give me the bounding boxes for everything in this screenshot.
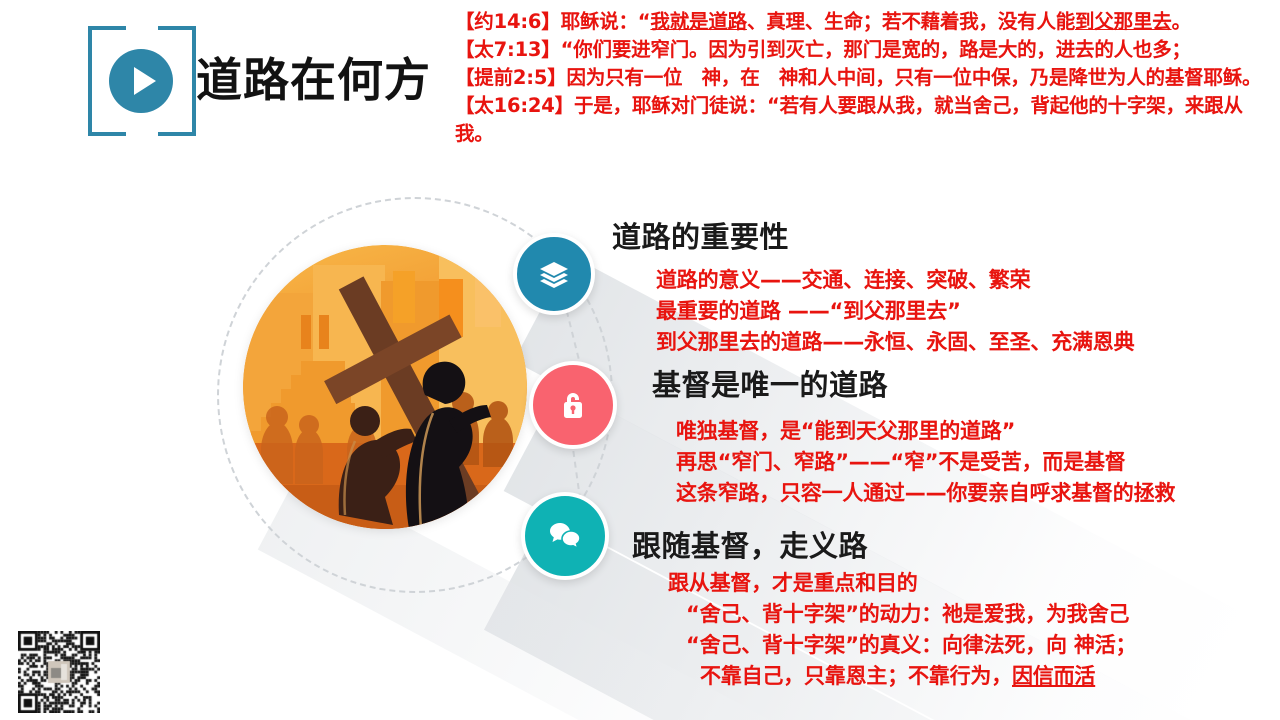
illustration-jesus-carrying-cross	[243, 245, 527, 529]
section-line: 唯独基督，是“能到天父那里的道路”	[676, 416, 1175, 447]
section-line: 到父那里去的道路——永恒、永固、至圣、充满恩典	[656, 327, 1134, 358]
section-line: 道路的意义——交通、连接、突破、繁荣	[656, 265, 1134, 296]
slide-body: 道路的重要性 道路的意义——交通、连接、突破、繁荣 最重要的道路 ——“到父那里…	[0, 0, 1280, 720]
section-body: 道路的意义——交通、连接、突破、繁荣 最重要的道路 ——“到父那里去” 到父那里…	[656, 265, 1134, 358]
section-heading: 基督是唯一的道路	[652, 362, 888, 404]
section-heading: 道路的重要性	[612, 214, 789, 256]
section-line: 这条窄路，只容一人通过——你要亲自呼求基督的拯救	[676, 478, 1175, 509]
section-heading: 跟随基督，走义路	[632, 523, 868, 565]
slide-root: 道路在何方 【约14:6】耶稣说：“我就是道路、真理、生命；若不藉着我，没有人能…	[0, 0, 1280, 720]
section-line-underlined: 不靠自己，只靠恩主；不靠行为，因信而活	[668, 661, 1136, 692]
section-line: “舍己、背十字架”的动力：祂是爱我，为我舍己	[668, 599, 1136, 630]
layers-icon[interactable]	[513, 233, 595, 315]
chat-bubbles-icon[interactable]	[521, 492, 609, 580]
lock-icon[interactable]	[529, 361, 617, 449]
section-body: 唯独基督，是“能到天父那里的道路” 再思“窄门、窄路”——“窄”不是受苦，而是基…	[676, 416, 1175, 509]
section-body: 跟从基督，才是重点和目的 “舍己、背十字架”的动力：祂是爱我，为我舍己 “舍己、…	[668, 568, 1136, 692]
section-line: 最重要的道路 ——“到父那里去”	[656, 296, 1134, 327]
section-line: 再思“窄门、窄路”——“窄”不是受苦，而是基督	[676, 447, 1175, 478]
qr-code[interactable]	[18, 631, 100, 713]
section-line: 跟从基督，才是重点和目的	[668, 568, 1136, 599]
section-line: “舍己、背十字架”的真义：向律法死，向 神活；	[668, 630, 1136, 661]
